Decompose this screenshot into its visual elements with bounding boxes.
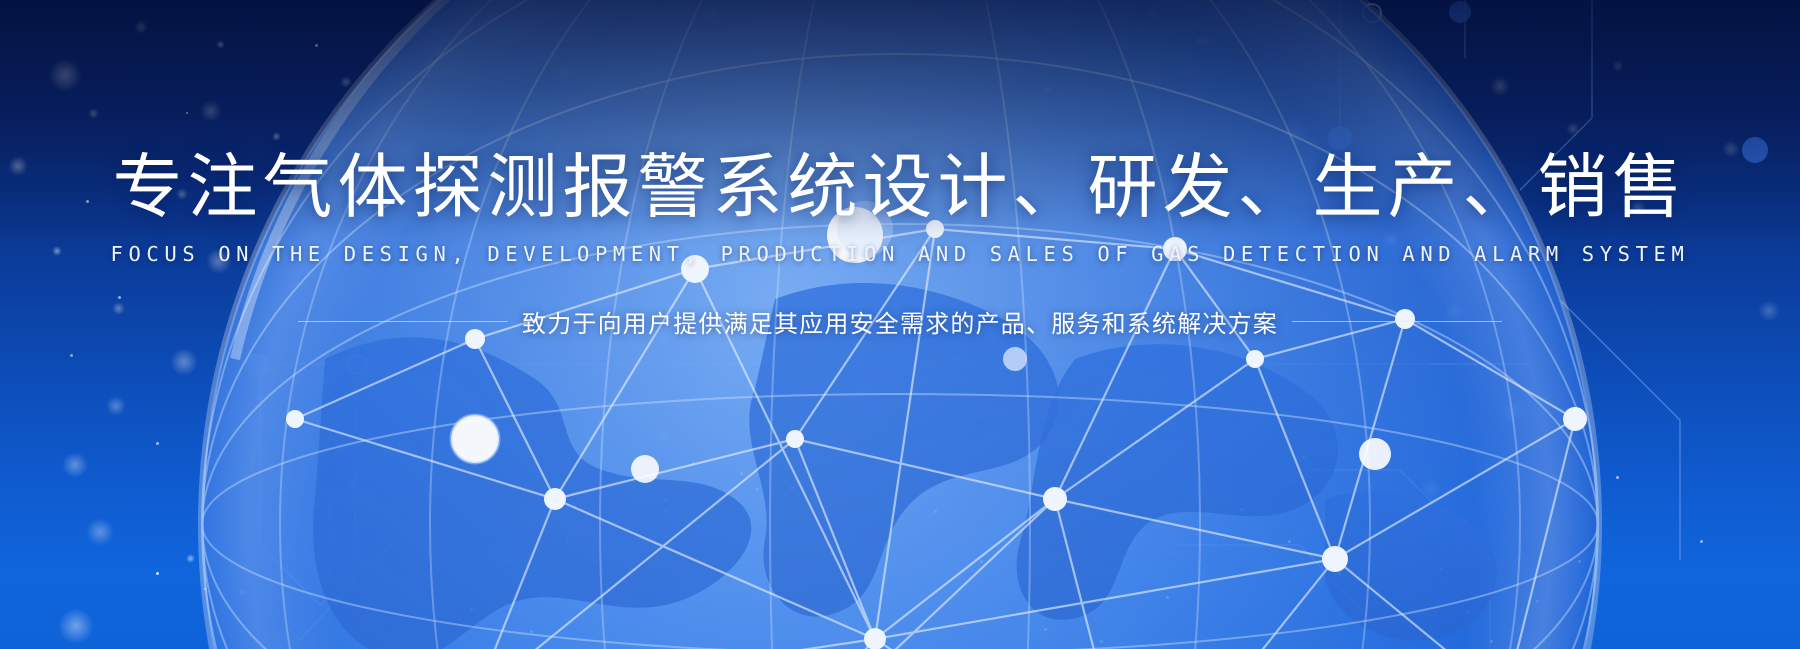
tagline-row: 致力于向用户提供满足其应用安全需求的产品、服务和系统解决方案	[0, 304, 1800, 339]
banner-content: 专注气体探测报警系统设计、研发、生产、销售 FOCUS ON THE DESIG…	[0, 150, 1800, 339]
tagline-rule-right	[1292, 321, 1502, 322]
tagline-text: 致力于向用户提供满足其应用安全需求的产品、服务和系统解决方案	[522, 304, 1278, 339]
hero-banner: 专注气体探测报警系统设计、研发、生产、销售 FOCUS ON THE DESIG…	[0, 0, 1800, 649]
tagline-rule-left	[298, 321, 508, 322]
page-title: 专注气体探测报警系统设计、研发、生产、销售	[0, 150, 1800, 226]
english-subtitle: FOCUS ON THE DESIGN, DEVELOPMENT, PRODUC…	[0, 242, 1800, 266]
